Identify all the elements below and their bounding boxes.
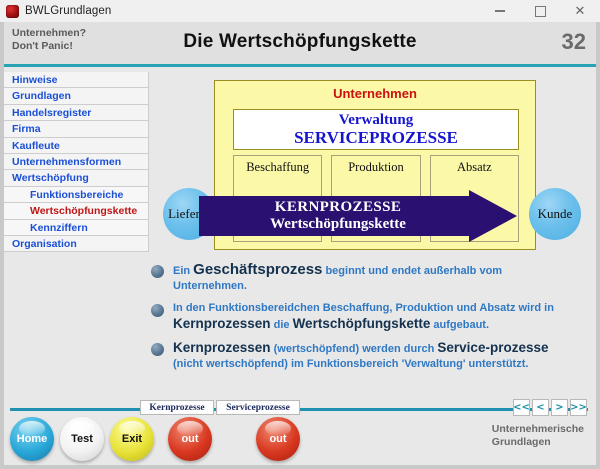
sidebar-item-unternehmensformen[interactable]: Unternehmensformen: [4, 154, 149, 170]
service-box-line1: Verwaltung: [339, 112, 413, 128]
bullet-segment: Service-prozesse: [437, 340, 548, 355]
bullet-segment: die: [271, 319, 293, 331]
slide-content: Unternehmen Verwaltung SERVICEPROZESSE B…: [149, 72, 596, 397]
footer-brand-line2: Grundlagen: [492, 436, 584, 449]
button-label: Home: [17, 433, 48, 445]
close-button[interactable]: ✕: [560, 0, 600, 22]
bullet-dot-icon: [151, 265, 164, 278]
footer-brand-line1: Unternehmerische: [492, 423, 584, 436]
bullet-dot-icon: [151, 304, 164, 317]
button-label: out: [181, 433, 198, 445]
sidebar-item-label: Hinweise: [12, 74, 58, 86]
button-label: Test: [71, 433, 93, 445]
maximize-icon: [535, 6, 546, 17]
core-process-arrow: KERNPROZESSE Wertschöpfungskette: [199, 190, 517, 242]
nav-next-button[interactable]: >: [551, 399, 568, 416]
company-label: Unternehmen: [215, 86, 535, 101]
service-box-line2: SERVICEPROZESSE: [294, 128, 458, 147]
minimize-button[interactable]: [480, 0, 520, 22]
button-label: out: [269, 433, 286, 445]
bullet-segment: aufgebaut.: [430, 319, 489, 331]
action-buttons: HomeTestExitoutout: [10, 417, 306, 461]
sidebar-item-label: Kennziffern: [30, 222, 88, 234]
footer-brand: Unternehmerische Grundlagen: [492, 423, 584, 449]
test-button[interactable]: Test: [60, 417, 104, 461]
bullet-dot-icon: [151, 343, 164, 356]
bullet-list: Ein Geschäftsprozess beginnt und endet a…: [149, 262, 596, 379]
sidebar-item-label: Unternehmensformen: [12, 156, 121, 168]
nav-previous-button[interactable]: <: [532, 399, 549, 416]
customer-circle: Kunde: [529, 188, 581, 240]
sidebar-item-label: Kaufleute: [12, 140, 60, 152]
application-window: BWLGrundlagen ✕ Unternehmen? Don't Panic…: [0, 0, 600, 469]
service-processes-box: Verwaltung SERVICEPROZESSE: [233, 109, 519, 150]
bullet-text: In den Funktionsbereidchen Beschaffung, …: [173, 301, 573, 333]
sidebar-item-label: Wertschöpfungskette: [30, 205, 137, 217]
sidebar-item-label: Organisation: [12, 238, 77, 250]
footer-bar: Kernprozesse Serviceprozesse <<<>>> Home…: [4, 397, 596, 465]
sidebar-item-label: Firma: [12, 123, 41, 135]
bullet-segment: Geschäftsprozess: [193, 261, 322, 278]
slide-header: Unternehmen? Don't Panic! Die Wertschöpf…: [4, 22, 596, 67]
nav-last-button[interactable]: >>: [570, 399, 587, 416]
sidebar-item-wertsch-pfungskette[interactable]: Wertschöpfungskette: [4, 203, 149, 219]
sidebar-item-hinweise[interactable]: Hinweise: [4, 72, 149, 88]
sidebar-item-wertsch-pfung[interactable]: Wertschöpfung: [4, 170, 149, 186]
bullet-segment: (nicht wertschöpfend) im Funktionsbereic…: [173, 358, 528, 370]
sidebar-item-grundlagen[interactable]: Grundlagen: [4, 88, 149, 104]
bullet-item: Ein Geschäftsprozess beginnt und endet a…: [149, 262, 596, 294]
nav-first-button[interactable]: <<: [513, 399, 530, 416]
close-icon: ✕: [575, 5, 586, 18]
page-number: 32: [562, 29, 586, 55]
sidebar-navigation: HinweiseGrundlagenHandelsregisterFirmaKa…: [4, 72, 149, 397]
arrow-line2: Wertschöpfungskette: [270, 216, 406, 233]
sidebar-item-handelsregister[interactable]: Handelsregister: [4, 105, 149, 121]
button-label: Exit: [122, 433, 142, 445]
sidebar-item-label: Funktionsbereiche: [30, 189, 123, 201]
bullet-segment: in: [544, 302, 554, 314]
bullet-text: Kernprozessen (wertschöpfend) werden dur…: [173, 340, 573, 372]
minimize-icon: [495, 10, 505, 12]
home-button[interactable]: Home: [10, 417, 54, 461]
sidebar-item-kaufleute[interactable]: Kaufleute: [4, 138, 149, 154]
bullet-segment: Wertschöpfungskette: [293, 316, 431, 331]
tab-serviceprozesse[interactable]: Serviceprozesse: [216, 400, 300, 415]
bullet-segment: Kernprozessen: [173, 316, 271, 331]
sidebar-item-label: Grundlagen: [12, 90, 71, 102]
bullet-item: In den Funktionsbereidchen Beschaffung, …: [149, 301, 596, 333]
window-title: BWLGrundlagen: [25, 5, 111, 17]
bullet-text: Ein Geschäftsprozess beginnt und endet a…: [173, 262, 573, 294]
app-icon: [6, 5, 19, 18]
out-button-1[interactable]: out: [168, 417, 212, 461]
maximize-button[interactable]: [520, 0, 560, 22]
arrow-line1: KERNPROZESSE: [275, 199, 402, 216]
bullet-segment: In den Funktionsbereidchen Beschaffung, …: [173, 302, 544, 314]
sidebar-item-organisation[interactable]: Organisation: [4, 236, 149, 252]
sidebar-item-label: Handelsregister: [12, 107, 91, 119]
slide-navigation: <<<>>>: [513, 399, 587, 416]
page-title: Die Wertschöpfungskette: [4, 31, 596, 53]
bullet-segment: Kernprozessen: [173, 340, 271, 355]
window-frame-bottom: [0, 465, 600, 469]
sidebar-item-funktionsbereiche[interactable]: Funktionsbereiche: [4, 187, 149, 203]
sidebar-item-firma[interactable]: Firma: [4, 121, 149, 137]
bullet-item: Kernprozessen (wertschöpfend) werden dur…: [149, 340, 596, 372]
sidebar-item-kennziffern[interactable]: Kennziffern: [4, 220, 149, 236]
tab-kernprozesse[interactable]: Kernprozesse: [140, 400, 214, 415]
window-controls: ✕: [480, 0, 600, 22]
exit-button[interactable]: Exit: [110, 417, 154, 461]
bullet-segment: Ein: [173, 265, 193, 277]
window-frame-right: [596, 22, 600, 469]
customer-label: Kunde: [538, 206, 573, 222]
bullet-segment: (wertschöpfend) werden durch: [271, 343, 438, 355]
out-button-2[interactable]: out: [256, 417, 300, 461]
sidebar-item-label: Wertschöpfung: [12, 172, 89, 184]
title-bar: BWLGrundlagen ✕: [0, 0, 600, 23]
